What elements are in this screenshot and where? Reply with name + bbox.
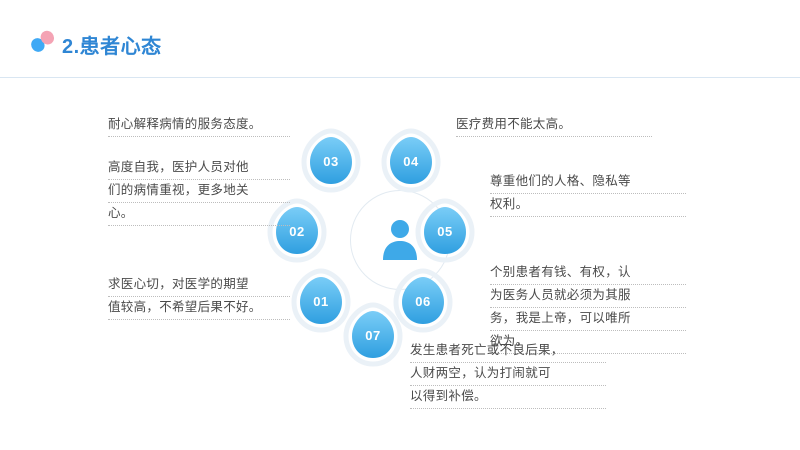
note-03: 耐心解释病情的服务态度。 [108,114,290,137]
petal-03[interactable]: 03 [298,128,364,194]
note-01-line-2: 值较高，不希望后果不好。 [108,297,290,320]
pill-icon [28,30,58,52]
note-02-line-3: 心。 [108,203,290,226]
note-05-line-1: 尊重他们的人格、隐私等 [490,171,686,194]
note-02-line-2: 们的病情重视，更多地关 [108,180,290,203]
note-03-line-1: 耐心解释病情的服务态度。 [108,114,290,137]
note-02: 高度自我，医护人员对他 们的病情重视，更多地关 心。 [108,157,290,226]
note-01-line-1: 求医心切，对医学的期望 [108,274,290,297]
note-06-line-1: 个别患者有钱、有权，认 [490,262,686,285]
page-title: 2.患者心态 [62,30,162,59]
note-06-line-2: 为医务人员就必须为其服 [490,285,686,308]
note-04-line-1: 医疗费用不能太高。 [456,114,652,137]
petal-07[interactable]: 07 [340,302,406,368]
note-07-line-3: 以得到补偿。 [410,386,606,409]
petal-05[interactable]: 05 [412,198,478,264]
note-04: 医疗费用不能太高。 [456,114,652,137]
note-07: 发生患者死亡或不良后果， 人财两空，认为打闹就可 以得到补偿。 [410,340,606,409]
note-02-line-1: 高度自我，医护人员对他 [108,157,290,180]
header-divider [0,77,800,78]
note-07-line-2: 人财两空，认为打闹就可 [410,363,606,386]
note-01: 求医心切，对医学的期望 值较高，不希望后果不好。 [108,274,290,320]
note-05: 尊重他们的人格、隐私等 权利。 [490,171,686,217]
petal-04[interactable]: 04 [378,128,444,194]
page-header: 2.患者心态 [0,0,800,78]
note-05-line-2: 权利。 [490,194,686,217]
note-07-line-1: 发生患者死亡或不良后果， [410,340,606,363]
note-06-line-3: 务，我是上帝，可以唯所 [490,308,686,331]
